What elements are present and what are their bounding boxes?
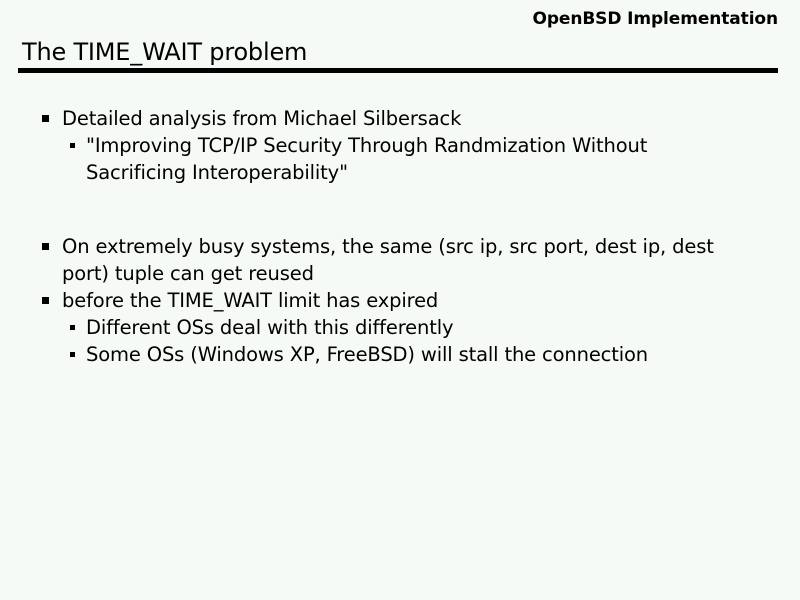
bullet-text: On extremely busy systems, the same (src…	[62, 233, 752, 287]
bullet-item-level1: before the TIME_WAIT limit has expired	[0, 287, 800, 314]
bullet-square-icon	[70, 143, 75, 148]
bullet-text: Some OSs (Windows XP, FreeBSD) will stal…	[86, 341, 711, 368]
bullet-text: Different OSs deal with this differently	[86, 314, 711, 341]
bullet-text: before the TIME_WAIT limit has expired	[62, 287, 752, 314]
bullet-square-icon	[42, 297, 49, 304]
slide-eyebrow: OpenBSD Implementation	[18, 9, 778, 29]
bullet-item-level1: On extremely busy systems, the same (src…	[0, 233, 800, 287]
bullet-item-level2: "Improving TCP/IP Security Through Randm…	[0, 132, 800, 186]
slide-body: Detailed analysis from Michael Silbersac…	[0, 105, 800, 368]
title-divider	[18, 68, 778, 73]
bullet-item-level2: Different OSs deal with this differently	[0, 314, 800, 341]
slide: OpenBSD Implementation The TIME_WAIT pro…	[0, 0, 800, 600]
bullet-square-icon	[70, 325, 75, 330]
bullet-item-level2: Some OSs (Windows XP, FreeBSD) will stal…	[0, 341, 800, 368]
paragraph-spacer	[0, 186, 800, 233]
bullet-square-icon	[42, 115, 49, 122]
bullet-item-level1: Detailed analysis from Michael Silbersac…	[0, 105, 800, 132]
bullet-text: "Improving TCP/IP Security Through Randm…	[86, 132, 711, 186]
bullet-text: Detailed analysis from Michael Silbersac…	[62, 105, 752, 132]
page-title: The TIME_WAIT problem	[22, 38, 307, 66]
bullet-square-icon	[70, 352, 75, 357]
bullet-square-icon	[42, 243, 49, 250]
